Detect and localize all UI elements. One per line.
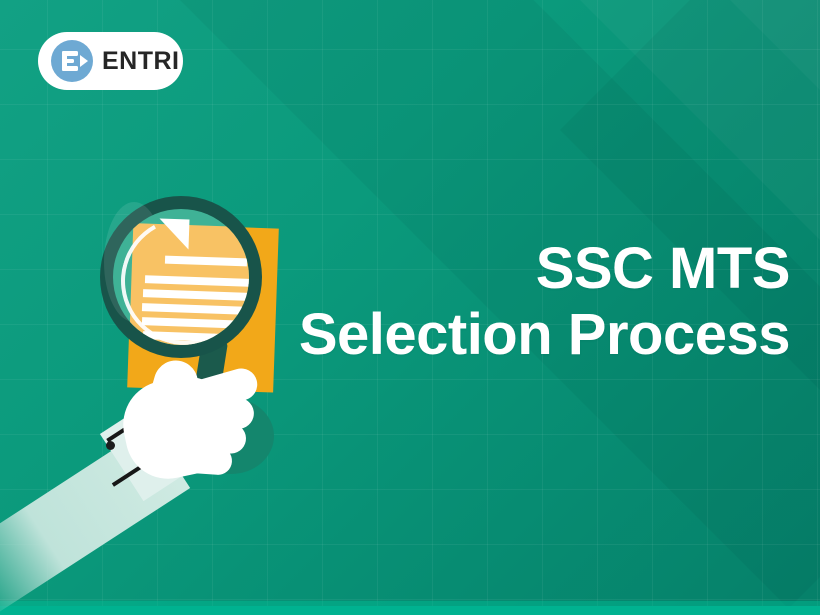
entri-logo-text: ENTRI xyxy=(102,47,180,76)
page-title-line-2: Selection Process xyxy=(299,302,790,368)
cuff-button-icon xyxy=(106,441,115,450)
entri-logo[interactable]: ENTRI xyxy=(38,32,183,90)
page-title: SSC MTS Selection Process xyxy=(299,236,790,367)
magnifier-lens xyxy=(113,209,249,345)
hand-finger xyxy=(179,444,233,476)
banner-canvas: ENTRI SSC MTS Selection Process xyxy=(0,0,820,615)
entri-e-play-icon xyxy=(51,40,93,82)
page-title-line-1: SSC MTS xyxy=(299,236,790,302)
